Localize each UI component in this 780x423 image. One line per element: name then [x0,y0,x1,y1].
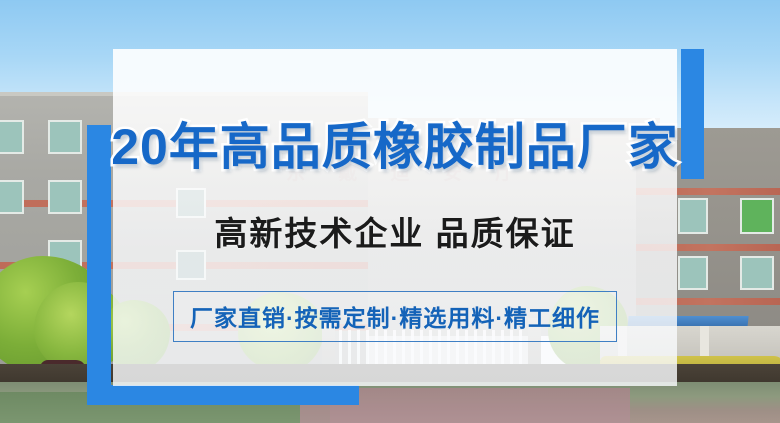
window [0,120,24,154]
accent-bar-left [87,125,111,405]
window [740,256,774,290]
subheadline: 高新技术企业 品质保证 [214,207,575,255]
promo-banner: 东 戴 迪 安 厅 20年高品质橡胶制品厂家 高新技术企业 品质保证 厂家直销·… [0,0,780,423]
accent-bar-right [681,49,704,179]
window [48,180,82,214]
banner-content: 20年高品质橡胶制品厂家 高新技术企业 品质保证 厂家直销·按需定制·精选用料·… [113,49,677,386]
accent-bar-bottom [87,385,359,405]
wall-post [700,326,709,360]
window [48,120,82,154]
window [678,198,708,234]
window [0,180,24,214]
window [678,256,708,290]
tagline-box: 厂家直销·按需定制·精选用料·精工细作 [173,291,617,342]
tagline: 厂家直销·按需定制·精选用料·精工细作 [190,299,600,333]
headline: 20年高品质橡胶制品厂家 [111,107,679,179]
window [740,198,774,234]
